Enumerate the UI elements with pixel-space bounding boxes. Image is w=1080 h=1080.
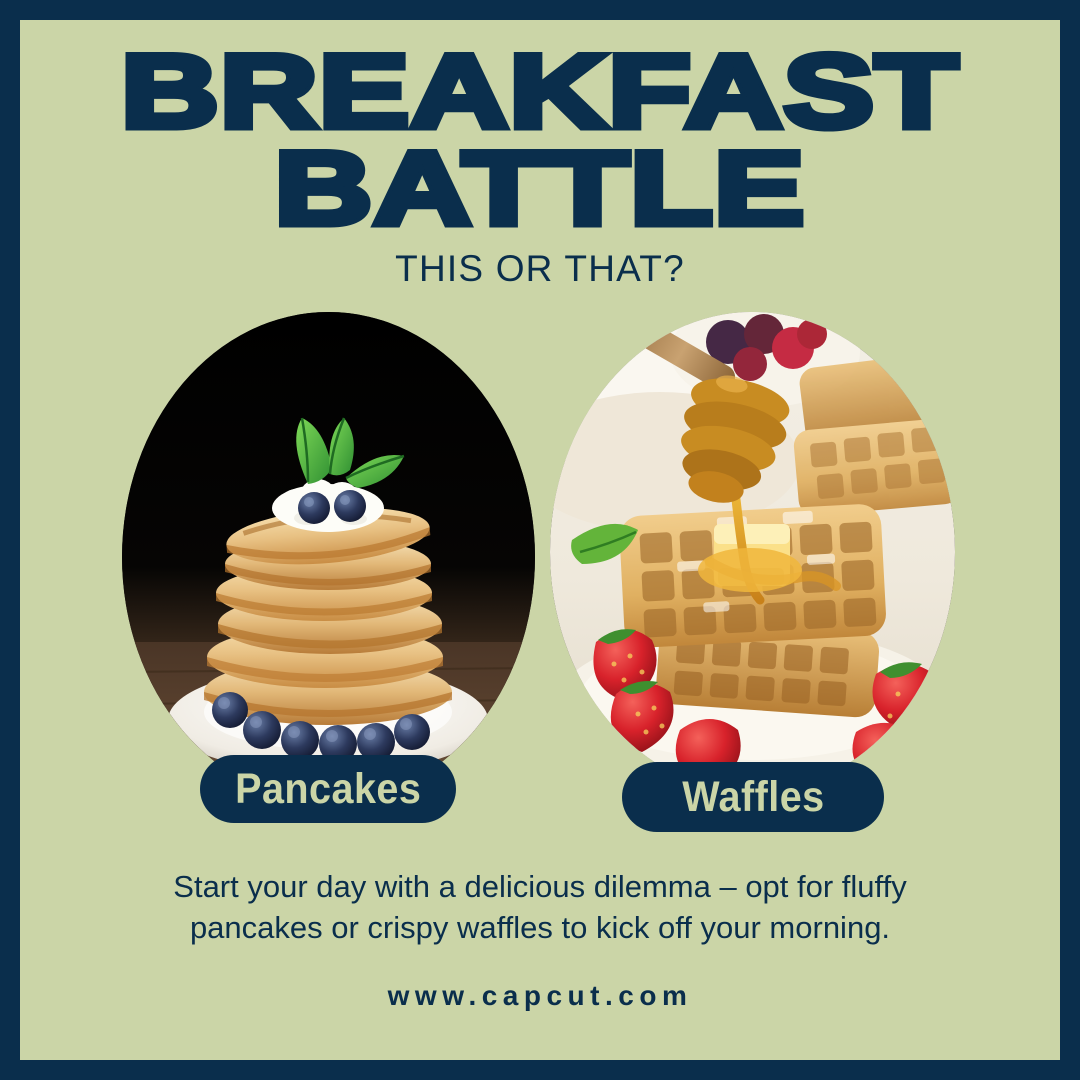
website-url: www.capcut.com bbox=[20, 980, 1060, 1012]
poster-canvas: BREAKFAST BATTLE THIS OR THAT? bbox=[20, 20, 1060, 1060]
option-pill-waffles[interactable]: Waffles bbox=[622, 762, 884, 832]
subtitle: THIS OR THAT? bbox=[20, 248, 1060, 290]
pancakes-photo bbox=[122, 312, 535, 802]
title-line-1: BREAKFAST bbox=[20, 48, 1060, 137]
waffles-photo bbox=[550, 312, 955, 792]
option-image-pancakes[interactable] bbox=[122, 312, 535, 802]
option-pill-pancakes[interactable]: Pancakes bbox=[200, 755, 456, 823]
option-image-waffles[interactable] bbox=[550, 312, 955, 792]
option-label-pancakes: Pancakes bbox=[235, 765, 421, 814]
poster-frame: BREAKFAST BATTLE THIS OR THAT? bbox=[0, 0, 1080, 1080]
title-block: BREAKFAST BATTLE bbox=[20, 48, 1060, 235]
title-line-2: BATTLE bbox=[20, 145, 1060, 234]
option-label-waffles: Waffles bbox=[682, 773, 824, 822]
description-text: Start your day with a delicious dilemma … bbox=[140, 866, 940, 948]
